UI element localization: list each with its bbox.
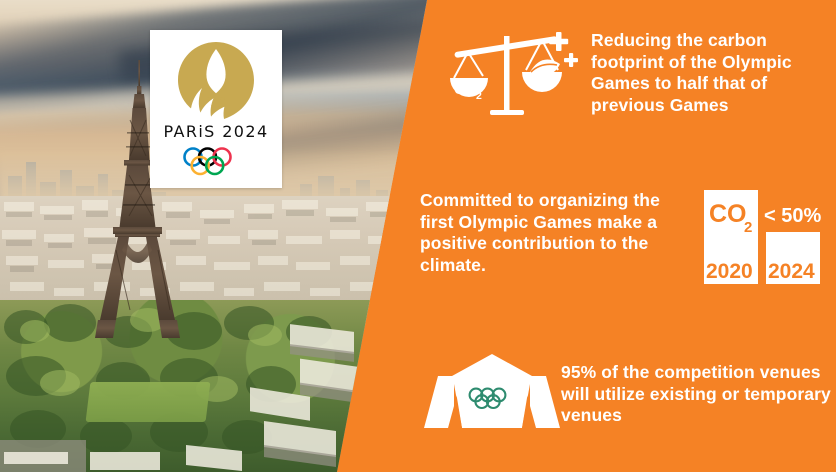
co2-bar-chart-icon: CO 2 2020 2024 < 50% — [700, 188, 832, 284]
paris2024-flame-marianne-icon — [176, 40, 256, 120]
svg-text:2: 2 — [476, 90, 482, 102]
svg-text:< 50%: < 50% — [764, 205, 821, 227]
paris-eiffel-tower-aerial-photo: PARiS 2024 — [0, 0, 440, 472]
tent-venue-olympic-rings-icon — [424, 350, 560, 432]
svg-text:2024: 2024 — [768, 260, 815, 283]
svg-text:2020: 2020 — [706, 260, 753, 283]
olympic-rings-icon — [181, 146, 251, 176]
svg-text:CO: CO — [709, 200, 747, 228]
carbon-footprint-text: Reducing the carbon footprint of the Oly… — [591, 30, 836, 116]
balance-scale-co2-leaf-icon: CO 2 — [438, 28, 578, 120]
svg-text:2: 2 — [744, 219, 752, 236]
venues-text: 95% of the competition venues will utili… — [561, 362, 836, 427]
paris2024-wordmark: PARiS 2024 — [150, 122, 282, 141]
climate-contribution-text: Committed to organizing the first Olympi… — [420, 190, 698, 276]
paris2024-logo-card: PARiS 2024 — [150, 30, 282, 188]
infographic-canvas: PARiS 2024 — [0, 0, 836, 472]
svg-text:CO: CO — [454, 82, 476, 98]
